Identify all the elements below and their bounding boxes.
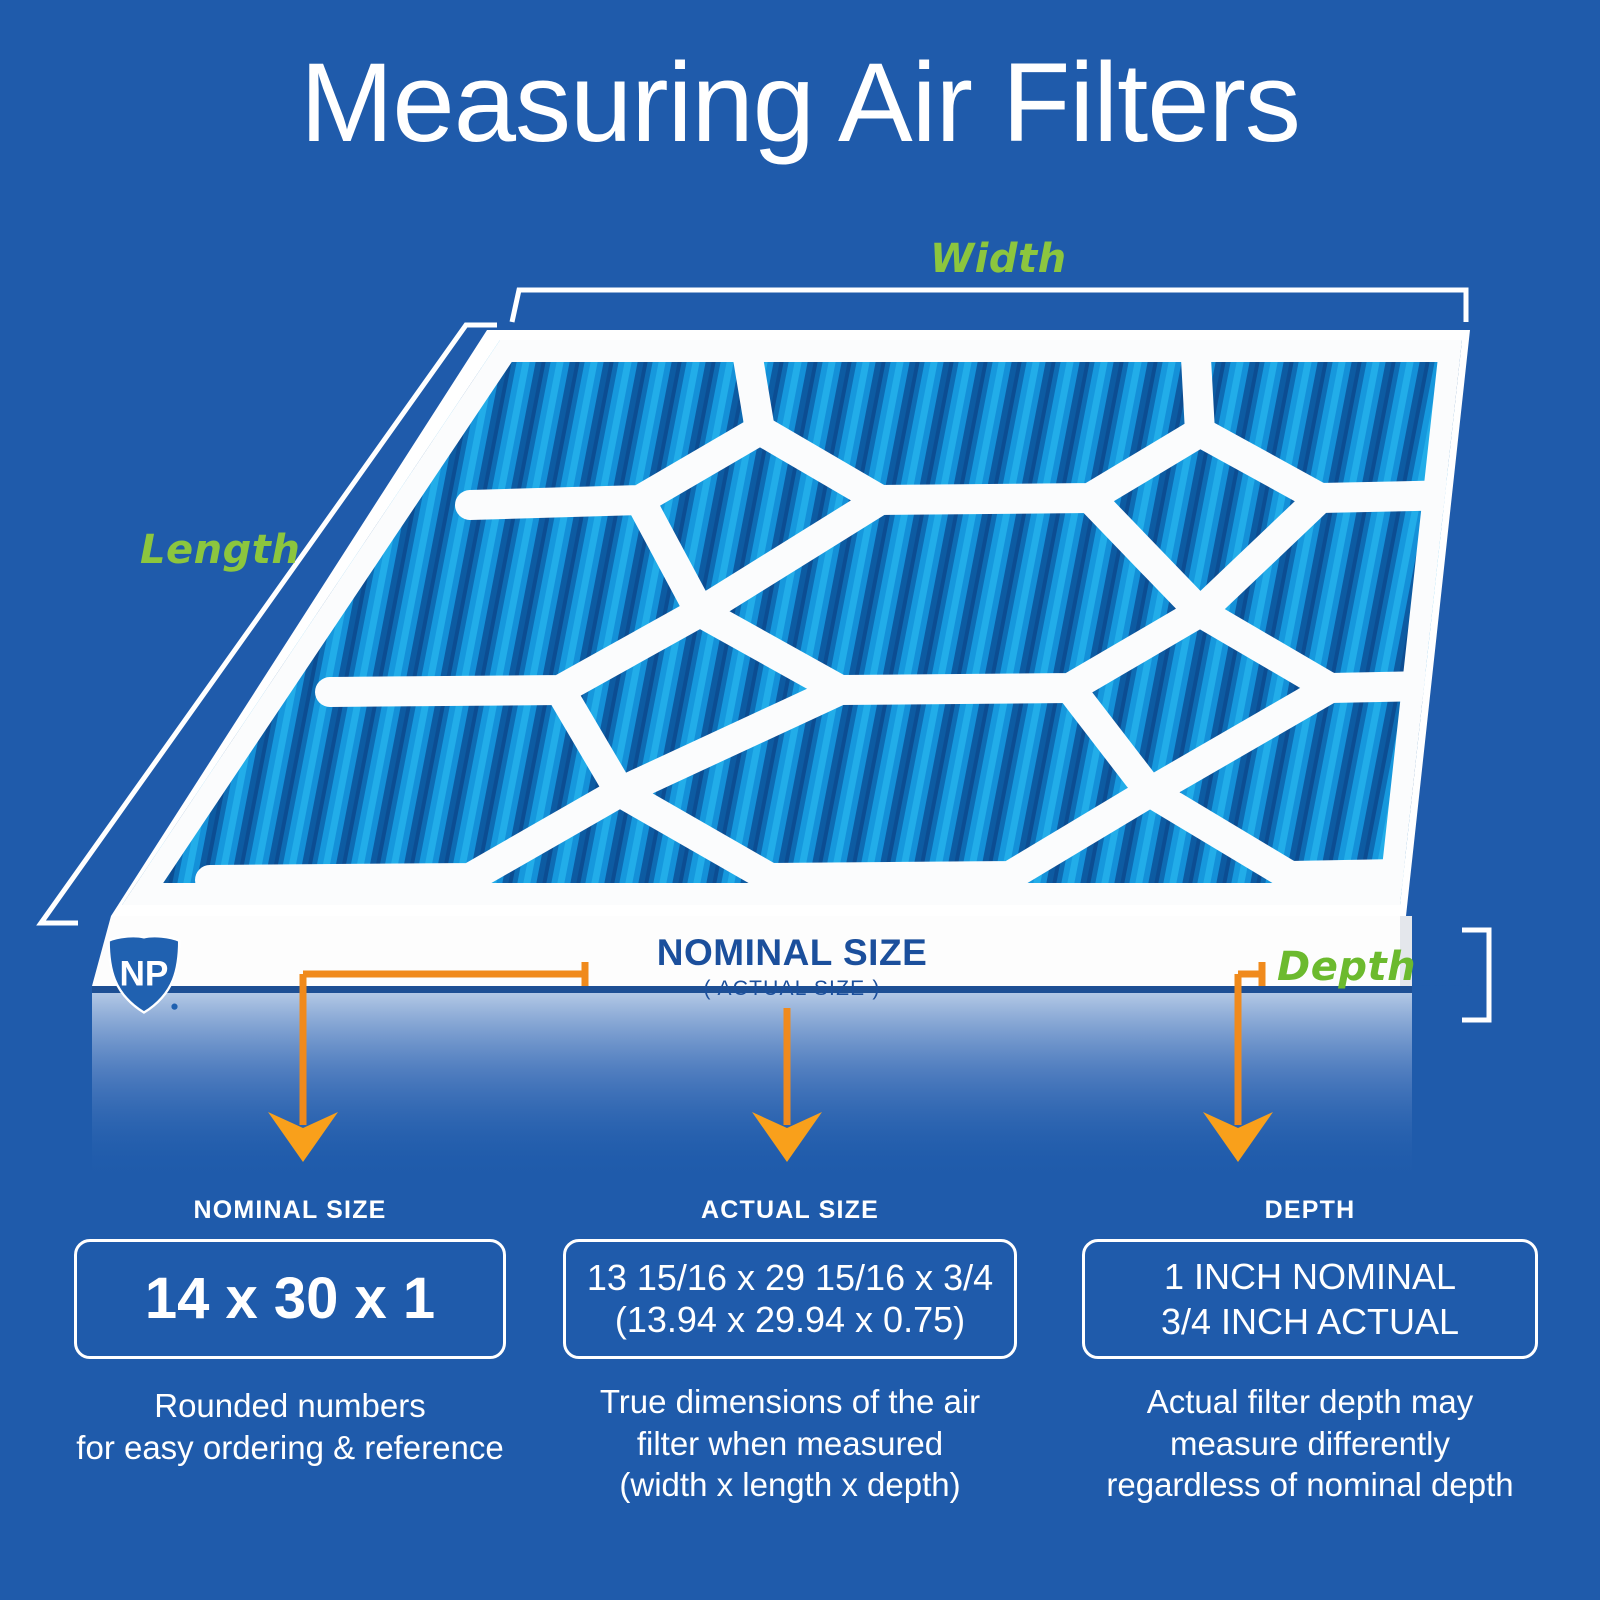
card-actual-size: ACTUAL SIZE 13 15/16 x 29 15/16 x 3/4 (1… — [555, 1196, 1025, 1506]
card-value-line: 13 15/16 x 29 15/16 x 3/4 — [587, 1257, 993, 1299]
card-title: ACTUAL SIZE — [555, 1196, 1025, 1225]
card-value-line: (13.94 x 29.94 x 0.75) — [615, 1299, 965, 1341]
card-caption: Rounded numbersfor easy ordering & refer… — [40, 1385, 540, 1468]
card-title: NOMINAL SIZE — [40, 1196, 540, 1225]
svg-text:®: ® — [171, 1001, 178, 1011]
card-value-box: 13 15/16 x 29 15/16 x 3/4 (13.94 x 29.94… — [563, 1239, 1017, 1359]
card-value-line: 1 INCH NOMINAL — [1164, 1254, 1456, 1299]
card-depth: DEPTH 1 INCH NOMINAL 3/4 INCH ACTUAL Act… — [1060, 1196, 1560, 1506]
card-nominal-size: NOMINAL SIZE 14 x 30 x 1 Rounded numbers… — [40, 1196, 540, 1506]
card-value-line: 14 x 30 x 1 — [145, 1270, 435, 1328]
air-filter-illustration: NP ® — [0, 0, 1600, 1180]
card-value-line: 3/4 INCH ACTUAL — [1161, 1299, 1459, 1344]
summary-cards: NOMINAL SIZE 14 x 30 x 1 Rounded numbers… — [0, 1196, 1600, 1506]
width-bracket — [512, 290, 1466, 322]
svg-text:NP: NP — [119, 955, 168, 994]
filter-reflection — [92, 992, 1412, 1180]
depth-label: Depth — [1277, 944, 1416, 990]
card-value-box: 14 x 30 x 1 — [74, 1239, 506, 1359]
infographic-canvas: Measuring Air Filters — [0, 0, 1600, 1600]
frame-nominal-size-label: NOMINAL SIZE ( ACTUAL SIZE ) — [472, 934, 1112, 1001]
frame-nominal-size-main: NOMINAL SIZE — [472, 934, 1112, 973]
card-value-box: 1 INCH NOMINAL 3/4 INCH ACTUAL — [1082, 1239, 1538, 1359]
card-title: DEPTH — [1060, 1196, 1560, 1225]
card-caption: Actual filter depth maymeasure different… — [1060, 1381, 1560, 1506]
filter-media-grid — [100, 330, 1500, 930]
width-label: Width — [930, 236, 1067, 282]
length-label: Length — [140, 527, 300, 573]
card-caption: True dimensions of the airfilter when me… — [555, 1381, 1025, 1506]
frame-nominal-size-sub: ( ACTUAL SIZE ) — [472, 977, 1112, 1001]
